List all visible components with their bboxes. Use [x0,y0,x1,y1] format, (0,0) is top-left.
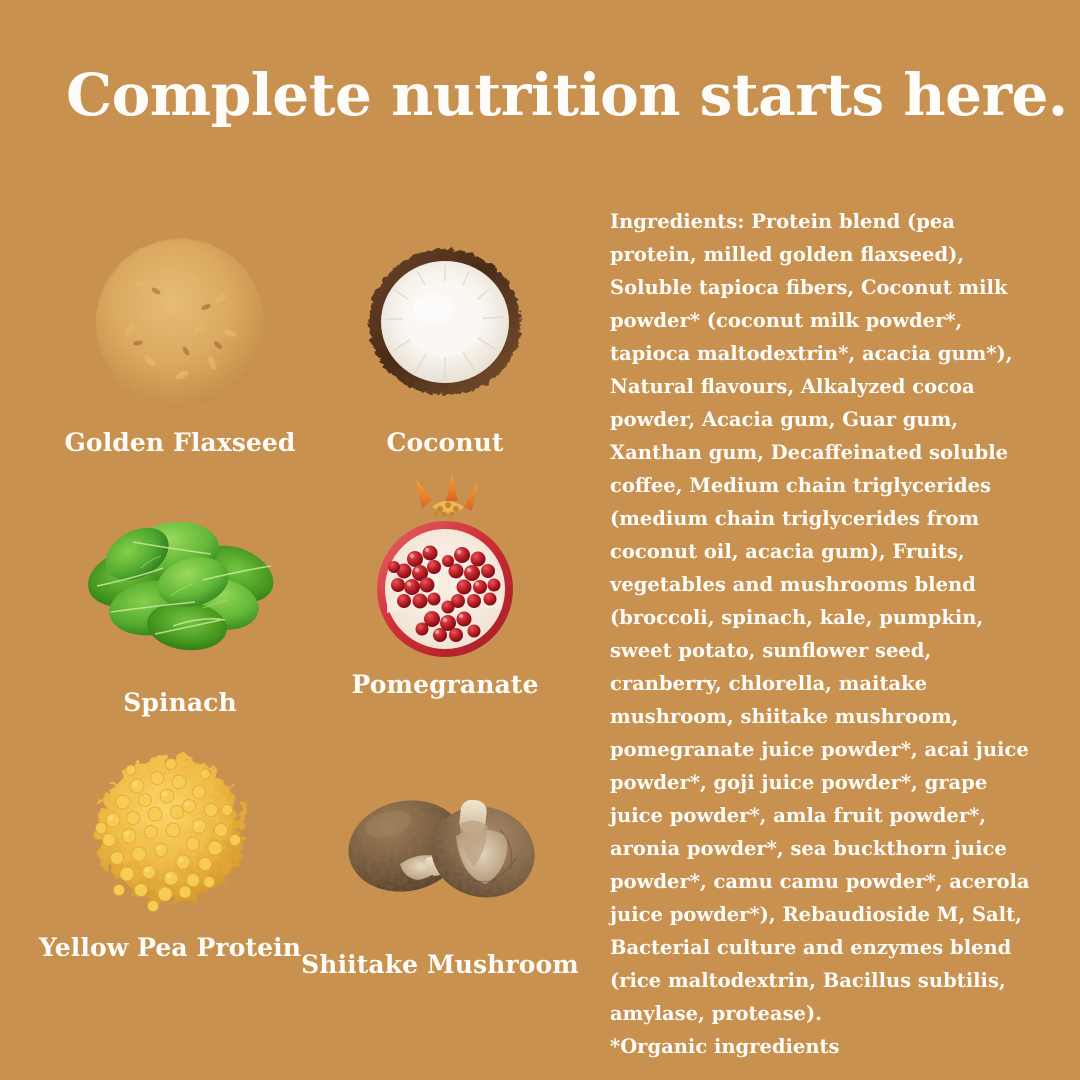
ingredient-label: Spinach [40,688,320,717]
ingredient-label: Yellow Pea Protein [30,933,310,962]
ingredient-card-pomegranate: Pomegranate [305,462,585,722]
golden-flaxseed-photo [40,220,320,425]
ingredient-card-spinach: Spinach [40,480,320,740]
pomegranate-half-photo [305,462,585,667]
ingredient-card-yellow-pea-protein: Yellow Pea Protein [30,725,310,985]
spinach-leaves-photo [40,480,320,685]
ingredient-showcase-grid: Golden Flaxseed [30,180,590,980]
ingredients-statement: Ingredients: Protein blend (pea protein,… [610,205,1042,1063]
organic-footnote: *Organic ingredients [610,1030,1042,1063]
ingredient-label: Pomegranate [305,670,585,699]
ingredients-body-text: Protein blend (pea protein, milled golde… [610,210,1030,1025]
ingredient-card-shiitake-mushroom: Shiitake Mushroom [300,742,580,1002]
ingredient-label: Shiitake Mushroom [300,950,580,979]
coconut-half-photo [305,220,585,425]
ingredient-label: Golden Flaxseed [40,428,320,457]
yellow-split-peas-photo [30,725,310,930]
ingredient-card-golden-flaxseed: Golden Flaxseed [40,220,320,480]
product-ingredients-panel: Complete nutrition starts here. [0,0,1080,1080]
shiitake-mushroom-photo [300,742,580,947]
ingredients-lead-label: Ingredients: [610,210,744,233]
ingredient-card-coconut: Coconut [305,220,585,480]
ingredient-label: Coconut [305,428,585,457]
page-title: Complete nutrition starts here. [66,66,1026,124]
